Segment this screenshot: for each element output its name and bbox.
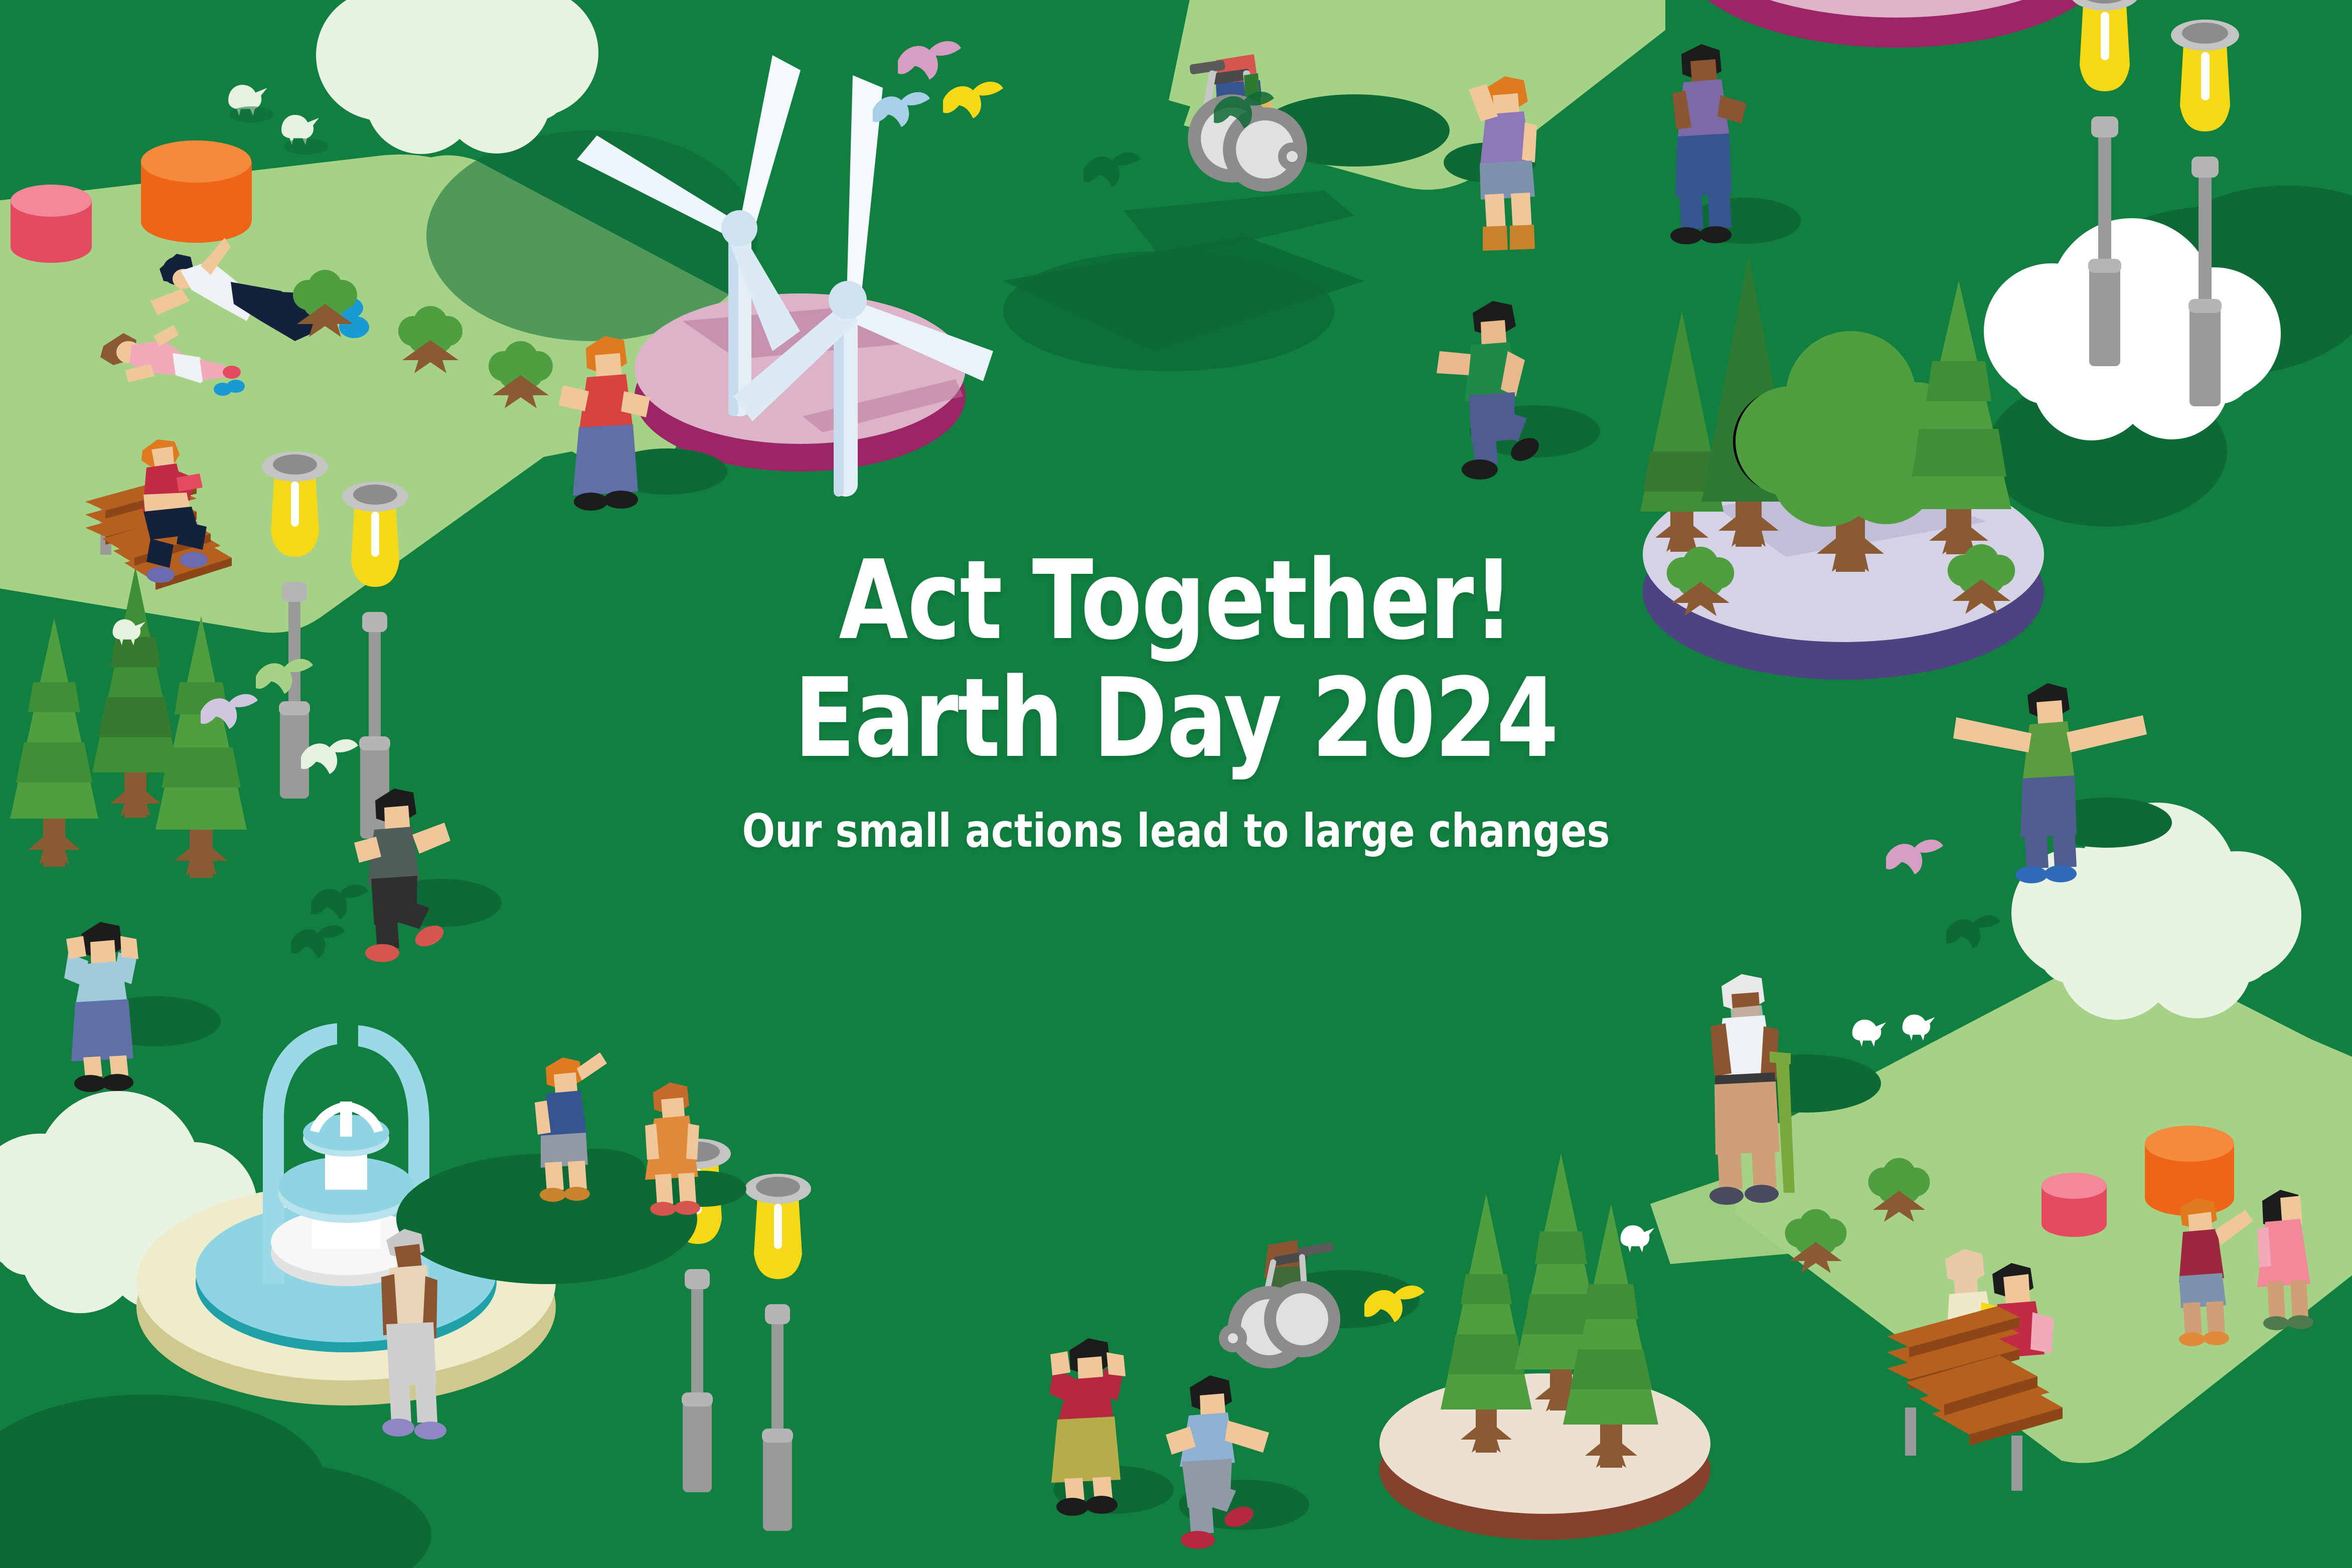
park-illustration: [0, 0, 2352, 1568]
picnic-cylinder-pink-right: [2042, 1173, 2107, 1237]
earth-day-poster: Act Together! Earth Day 2024 Our small a…: [0, 0, 2352, 1568]
picnic-cylinder-orange-left: [141, 140, 252, 243]
wind-turbine-platform: [635, 293, 966, 472]
picnic-cylinder-pink-left: [11, 185, 92, 263]
